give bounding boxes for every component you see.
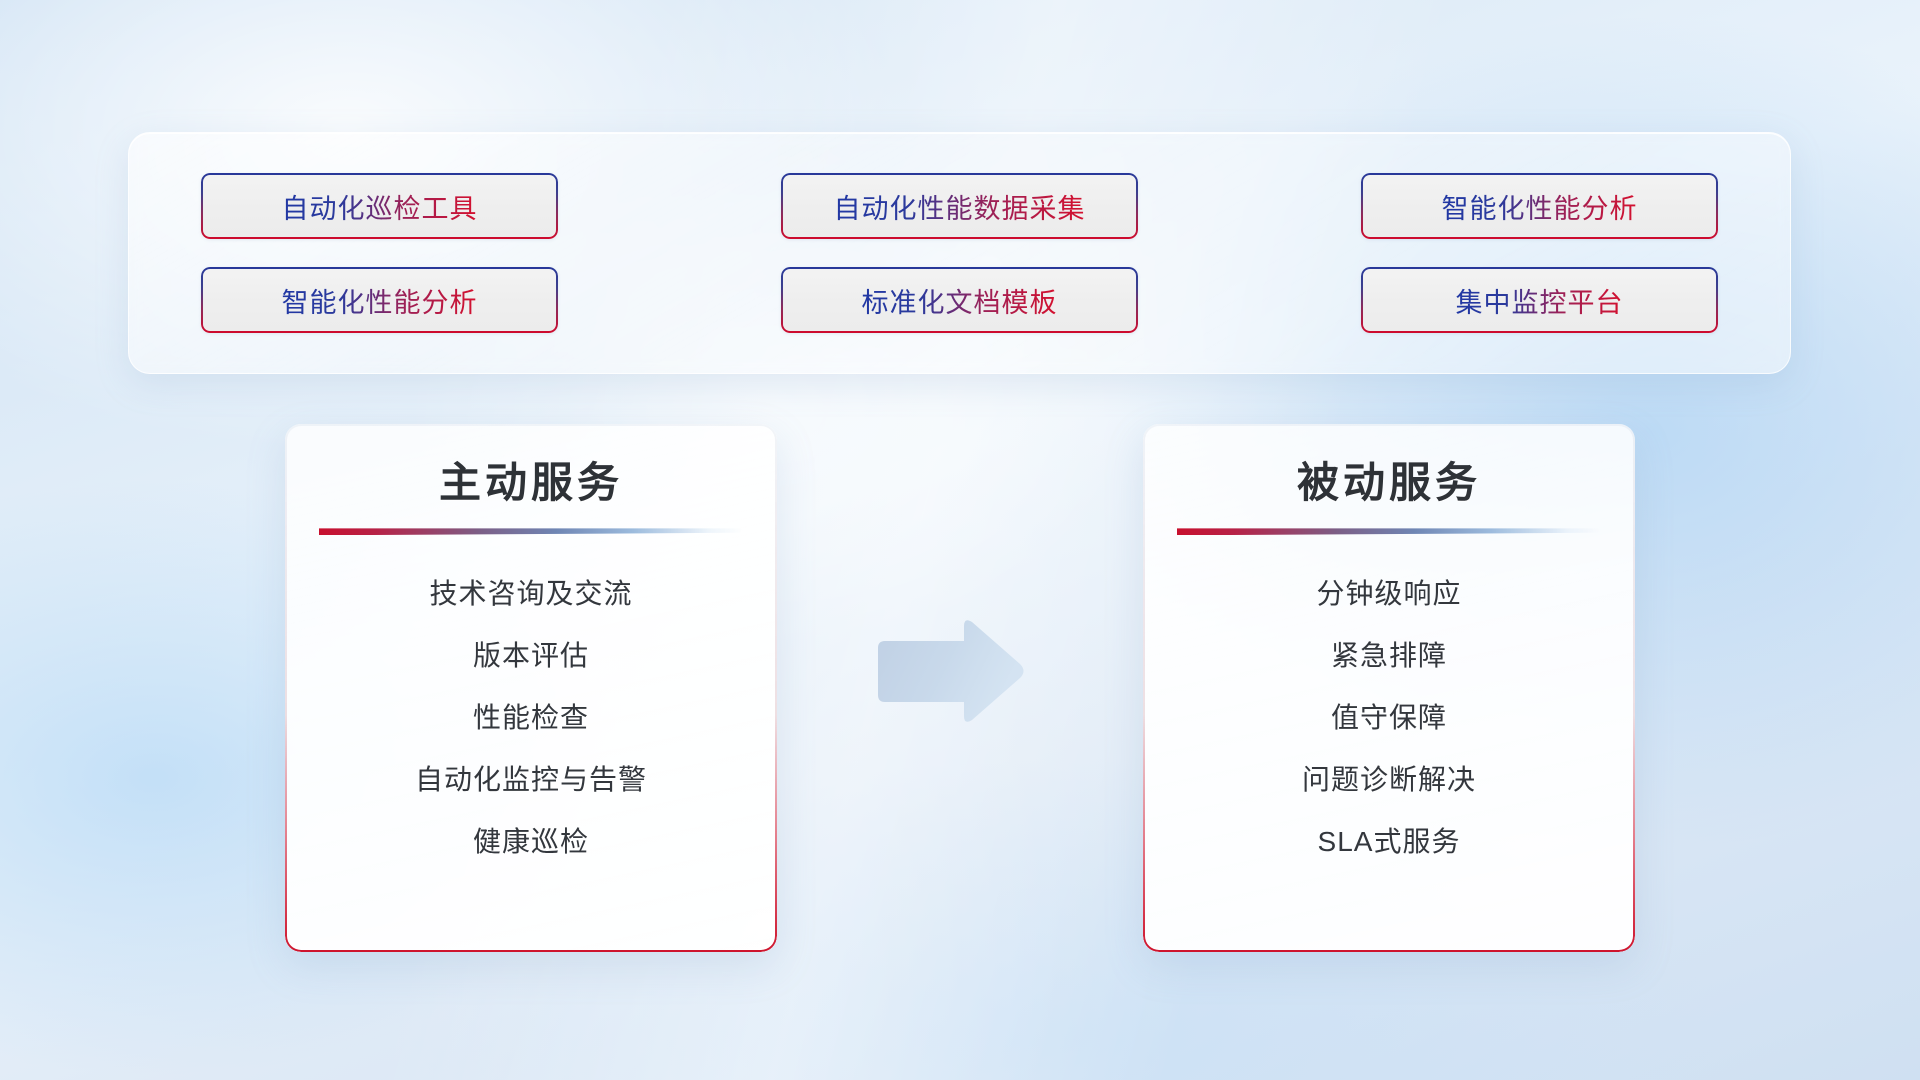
arrow-right-icon bbox=[868, 616, 1028, 728]
service-card-title: 被动服务 bbox=[1297, 458, 1481, 508]
capability-chip-automation-inspection-tool[interactable]: 自动化巡检工具 bbox=[201, 173, 558, 239]
capability-chip-label: 集中监控平台 bbox=[1456, 281, 1624, 320]
capability-row-1: 自动化巡检工具 自动化性能数据采集 智能化性能分析 bbox=[201, 173, 1718, 239]
title-underline-bar bbox=[319, 528, 743, 535]
list-item: 分钟级响应 bbox=[1316, 563, 1461, 625]
list-item: SLA式服务 bbox=[1318, 811, 1461, 873]
list-item: 技术咨询及交流 bbox=[429, 563, 632, 625]
capability-chip-label: 智能化性能分析 bbox=[282, 281, 478, 320]
service-item-list: 分钟级响应 紧急排障 值守保障 问题诊断解决 SLA式服务 bbox=[1143, 563, 1635, 873]
capability-chip-label: 智能化性能分析 bbox=[1442, 187, 1638, 226]
list-item: 性能检查 bbox=[473, 687, 589, 749]
title-underline-rule bbox=[319, 528, 743, 535]
capability-chip-standardized-document-template[interactable]: 标准化文档模板 bbox=[781, 267, 1138, 333]
capability-chip-centralized-monitoring-platform[interactable]: 集中监控平台 bbox=[1361, 267, 1718, 333]
capability-chip-label: 自动化性能数据采集 bbox=[834, 187, 1086, 226]
list-item: 自动化监控与告警 bbox=[415, 749, 647, 811]
capability-chip-intelligent-performance-analysis[interactable]: 智能化性能分析 bbox=[1361, 173, 1718, 239]
title-underline-bar bbox=[1177, 528, 1601, 535]
capability-panel: 自动化巡检工具 自动化性能数据采集 智能化性能分析 智能化性能分析 标准化文档模… bbox=[128, 132, 1791, 374]
list-item: 版本评估 bbox=[473, 625, 589, 687]
capability-chip-intelligent-performance-analysis-2[interactable]: 智能化性能分析 bbox=[201, 267, 558, 333]
service-card-title: 主动服务 bbox=[439, 458, 623, 508]
title-underline-rule bbox=[1177, 528, 1601, 535]
service-item-list: 技术咨询及交流 版本评估 性能检查 自动化监控与告警 健康巡检 bbox=[285, 563, 777, 873]
list-item: 问题诊断解决 bbox=[1302, 749, 1476, 811]
capability-chip-label: 自动化巡检工具 bbox=[282, 187, 478, 226]
capability-row-2: 智能化性能分析 标准化文档模板 集中监控平台 bbox=[201, 267, 1718, 333]
list-item: 紧急排障 bbox=[1331, 625, 1447, 687]
capability-chip-label: 标准化文档模板 bbox=[862, 281, 1058, 320]
capability-chip-automation-performance-data-collection[interactable]: 自动化性能数据采集 bbox=[781, 173, 1138, 239]
list-item: 值守保障 bbox=[1331, 687, 1447, 749]
service-card-reactive: 被动服务 分钟级响应 紧急排障 值守保障 问题诊断解决 SLA式服务 bbox=[1143, 424, 1635, 952]
list-item: 健康巡检 bbox=[473, 811, 589, 873]
service-card-proactive: 主动服务 技术咨询及交流 版本评估 性能检查 自动化监控与告警 健康巡检 bbox=[285, 424, 777, 952]
